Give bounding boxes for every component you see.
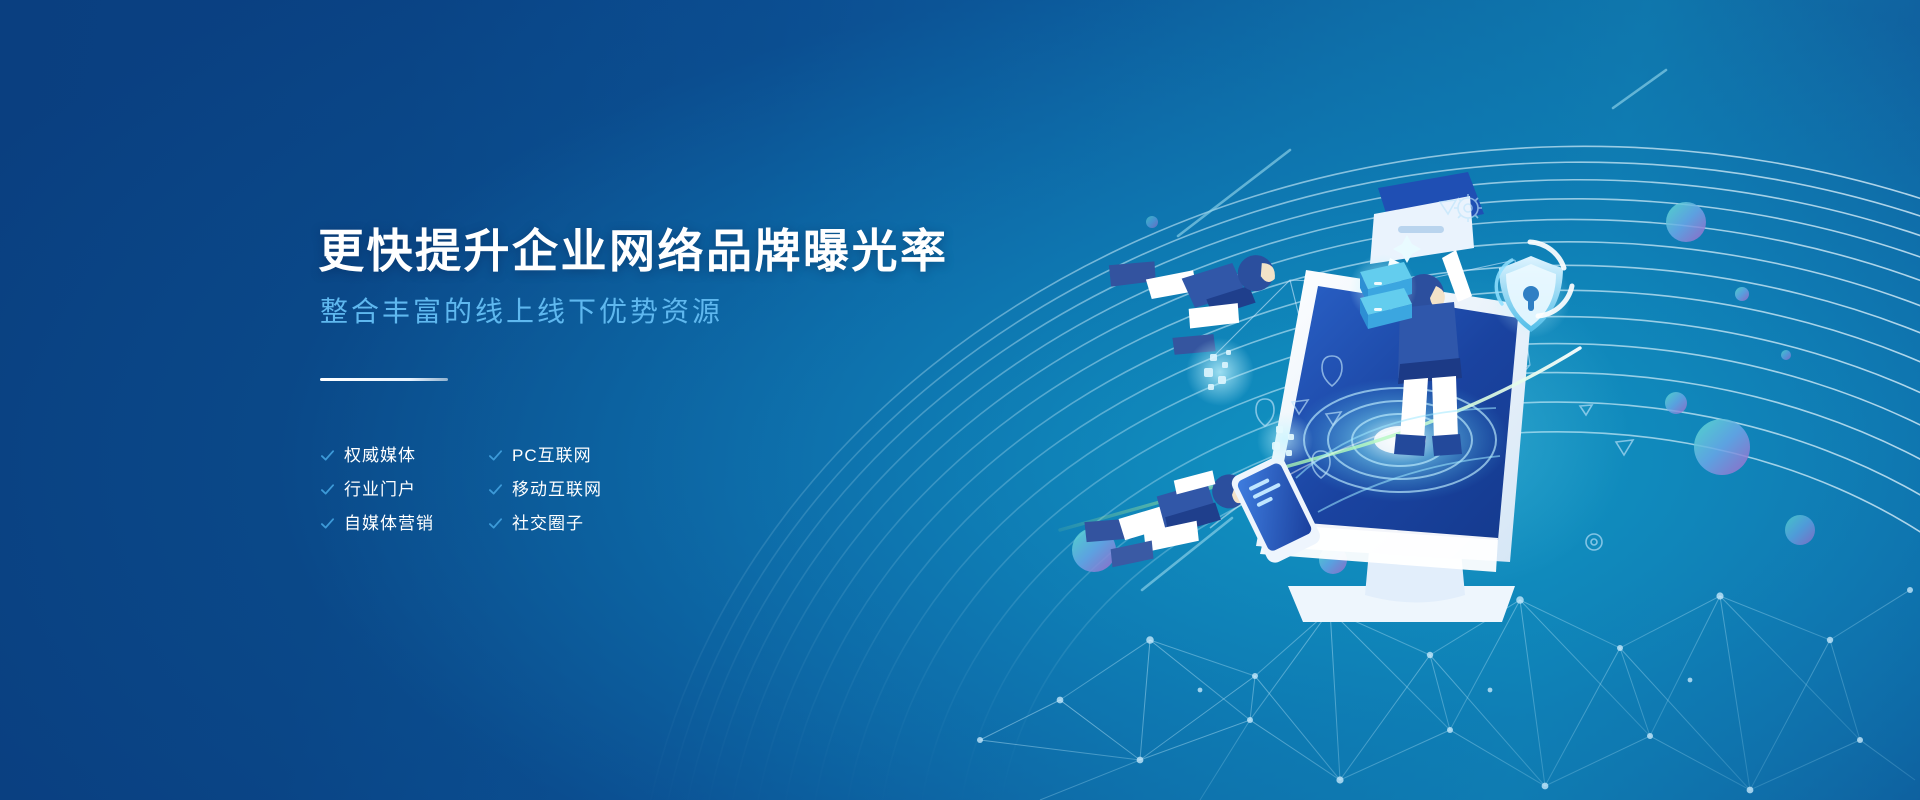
neon-arc [1060, 348, 1580, 530]
particle-burst-lower [1257, 412, 1313, 468]
check-icon [488, 482, 503, 497]
shield-lock-icon [1491, 256, 1571, 338]
check-icon [320, 516, 335, 531]
laptop-device [1370, 172, 1484, 264]
feature-label: 行业门户 [344, 481, 416, 498]
page-subtitle: 整合丰富的线上线下优势资源 [320, 295, 1078, 329]
sparkle-icon [1393, 235, 1421, 263]
target-icon [1586, 534, 1602, 550]
broken-ring-accent [1530, 242, 1572, 316]
smartphone-device [1229, 454, 1323, 566]
check-icon [320, 482, 335, 497]
standing-person-on-monitor [1370, 172, 1484, 456]
feature-label: 自媒体营销 [344, 515, 434, 532]
page-title: 更快提升企业网络品牌曝光率 [318, 226, 1078, 277]
hero-content: 更快提升企业网络品牌曝光率 整合丰富的线上线下优势资源 权威媒体 PC互联网 [318, 226, 1078, 532]
desktop-monitor [1256, 270, 1532, 622]
feature-label: PC互联网 [512, 447, 592, 464]
network-nodes [977, 587, 1913, 793]
location-pin-icon [1256, 356, 1342, 478]
server-stack-icon [1349, 235, 1421, 329]
hero-banner: 更快提升企业网络品牌曝光率 整合丰富的线上线下优势资源 权威媒体 PC互联网 [0, 0, 1920, 800]
glow-pool [1310, 270, 1630, 590]
feature-item-3: 移动互联网 [488, 481, 740, 498]
outline-icons [1256, 194, 1633, 550]
feature-item-4: 自媒体营销 [320, 515, 468, 532]
triangle-icon [1292, 200, 1633, 455]
feature-list: 权威媒体 PC互联网 行业门户 移动互联网 [320, 447, 740, 532]
network-mesh [980, 590, 1915, 800]
feature-label: 权威媒体 [344, 447, 416, 464]
particle-burst-upper [1186, 338, 1254, 406]
feature-item-2: 行业门户 [320, 481, 468, 498]
network-marketing-illustration [1060, 110, 1680, 670]
feature-item-0: 权威媒体 [320, 447, 468, 464]
gradient-spheres [1072, 197, 1815, 574]
check-icon [320, 448, 335, 463]
check-icon [488, 516, 503, 531]
constellation-lines [1210, 260, 1530, 530]
diving-person-upper [1102, 198, 1295, 381]
feature-item-5: 社交圈子 [488, 515, 740, 532]
title-divider [320, 378, 448, 381]
screen-swirl [1296, 408, 1500, 512]
feature-item-1: PC互联网 [488, 447, 740, 464]
feature-label: 社交圈子 [512, 515, 584, 532]
check-icon [488, 448, 503, 463]
feature-label: 移动互联网 [512, 481, 602, 498]
broken-ring-accent-2 [1496, 260, 1512, 304]
comet-streaks [1142, 70, 1666, 590]
diving-person-lower [1077, 464, 1256, 571]
gear-icon [1454, 194, 1482, 222]
